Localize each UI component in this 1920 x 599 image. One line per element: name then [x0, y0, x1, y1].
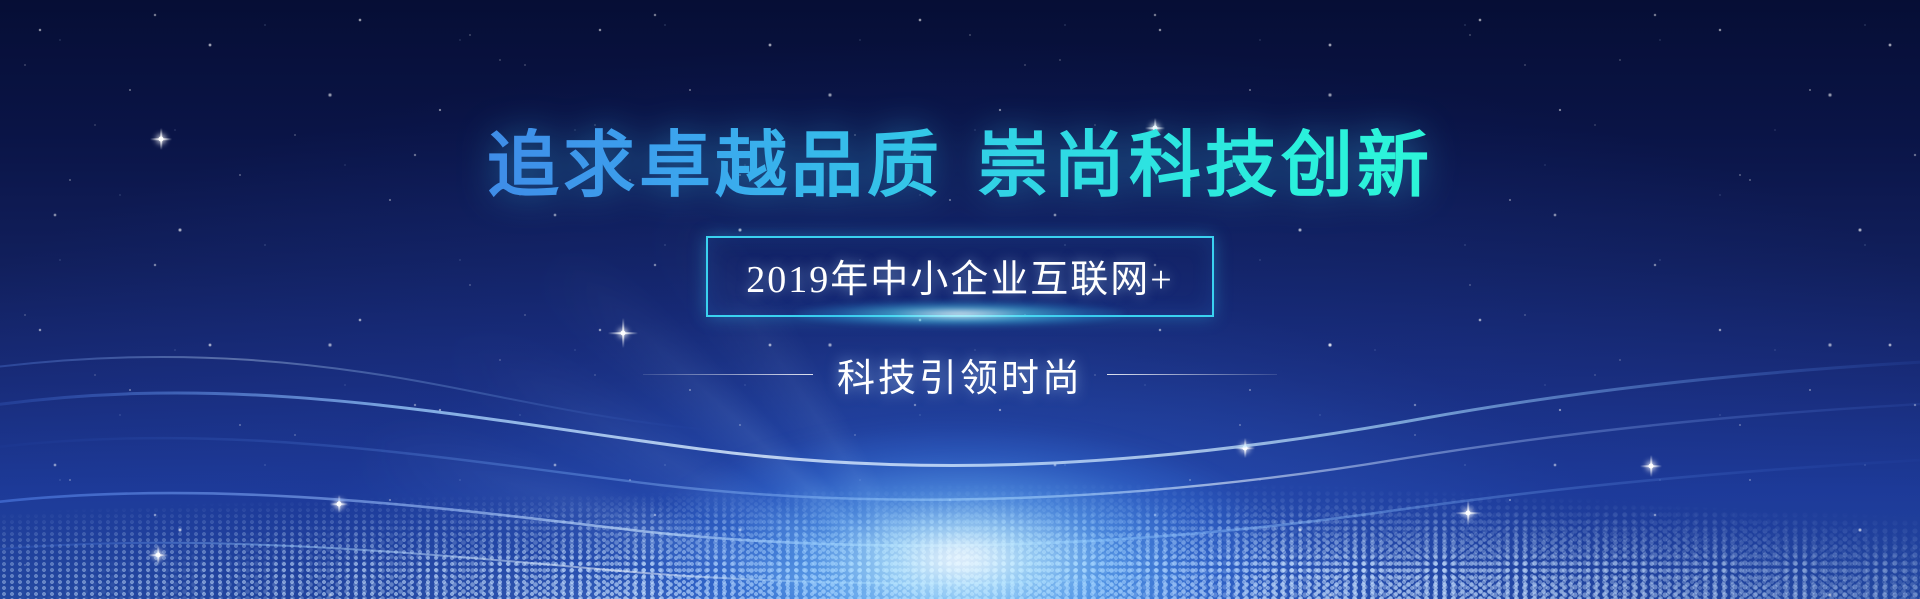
subtitle-frame: 2019年中小企业互联网+ — [706, 236, 1213, 317]
subtitle-text: 2019年中小企业互联网+ — [746, 248, 1173, 303]
tagline-text: 科技引领时尚 — [837, 347, 1083, 402]
page-title: 追求卓越品质崇尚科技创新 — [487, 128, 1433, 206]
rule-left — [643, 374, 813, 375]
banner-content: 追求卓越品质崇尚科技创新 2019年中小企业互联网+ 科技引领时尚 — [0, 0, 1920, 599]
headline-left: 追求卓越品质 — [487, 126, 943, 206]
headline-right: 崇尚科技创新 — [977, 126, 1433, 206]
tech-banner: 追求卓越品质崇尚科技创新 2019年中小企业互联网+ 科技引领时尚 — [0, 0, 1920, 599]
tagline-row: 科技引领时尚 — [643, 347, 1277, 402]
lens-flare — [795, 301, 1125, 327]
rule-right — [1107, 374, 1277, 375]
